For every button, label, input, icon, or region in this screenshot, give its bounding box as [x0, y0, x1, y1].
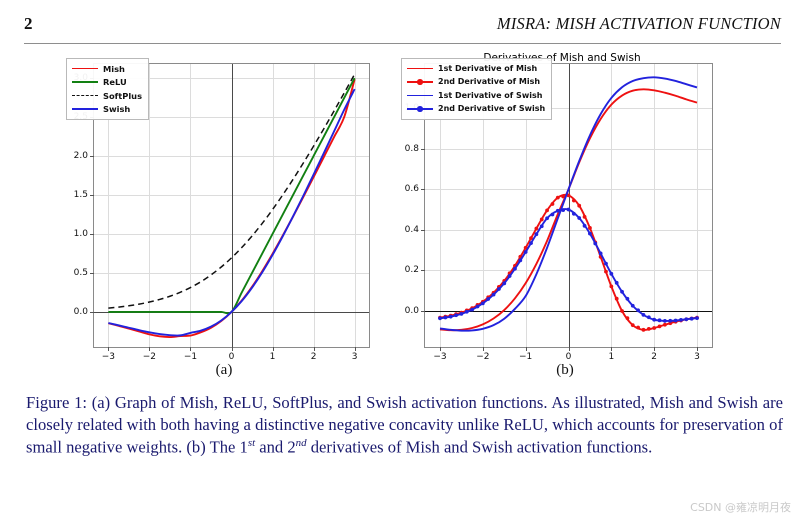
x-tick-mark	[190, 347, 191, 351]
x-tick-mark	[149, 347, 150, 351]
series-marker	[588, 226, 592, 230]
series-marker	[438, 316, 442, 320]
legend-label-softplus: SoftPlus	[103, 91, 142, 101]
x-tick-label: −3	[433, 352, 446, 362]
caption-sup-nd: nd	[296, 437, 307, 449]
series-marker	[679, 318, 683, 322]
legend-label-mish-d1: 1st Derivative of Mish	[438, 64, 537, 74]
series-marker	[663, 323, 667, 327]
series-marker	[534, 232, 538, 236]
legend-item-softplus[interactable]: SoftPlus	[72, 90, 142, 101]
series-marker	[556, 209, 560, 213]
x-tick-mark	[440, 347, 441, 351]
legend-label-mish: Mish	[103, 64, 125, 74]
series-marker	[561, 208, 565, 212]
series-marker	[460, 312, 464, 316]
series-marker	[695, 316, 699, 320]
series-marker	[642, 328, 646, 332]
legend-item-swish[interactable]: Swish	[72, 104, 142, 115]
legend-swatch-swish-d1	[407, 91, 433, 101]
x-tick-mark	[697, 347, 698, 351]
x-tick-mark	[526, 347, 527, 351]
series-marker	[609, 284, 613, 288]
series-marker	[588, 232, 592, 236]
x-tick-mark	[232, 347, 233, 351]
x-tick-mark	[569, 347, 570, 351]
sub-caption-a: (a)	[216, 362, 233, 379]
series-marker	[577, 216, 581, 220]
legend-swatch-swish	[72, 104, 98, 114]
series-marker	[551, 213, 555, 217]
y-tick-label: 0.2	[383, 265, 419, 275]
series-marker	[454, 313, 458, 317]
legend-label-mish-d2: 2nd Derivative of Mish	[438, 77, 540, 87]
running-header: 2 MISRA: MISH ACTIVATION FUNCTION	[24, 14, 781, 40]
legend-swatch-swish-d2	[407, 104, 433, 114]
watermark: CSDN @雍凉明月夜	[690, 499, 791, 515]
y-tick-label: 0.4	[383, 225, 419, 235]
legend-swatch-mish	[72, 64, 98, 74]
caption-mid: and 2	[255, 437, 296, 456]
series-marker	[518, 258, 522, 262]
x-tick-label: −2	[143, 352, 156, 362]
chart-panel-b: Derivatives of Mish and Swish −3−2−10123…	[392, 50, 732, 360]
series-marker	[486, 297, 490, 301]
series-line-2nd-derivative-of-mish	[440, 195, 697, 330]
series-marker	[497, 287, 501, 291]
legend-item-mish[interactable]: Mish	[72, 63, 142, 74]
series-marker	[647, 315, 651, 319]
series-marker	[577, 204, 581, 208]
legend-item-swish-d2[interactable]: 2nd Derivative of Swish	[407, 104, 545, 115]
legend-item-relu[interactable]: ReLU	[72, 77, 142, 88]
x-tick-mark	[314, 347, 315, 351]
series-marker	[443, 316, 447, 320]
y-tick-mark	[90, 273, 94, 274]
series-marker	[604, 262, 608, 266]
x-tick-label: 2	[311, 352, 317, 362]
legend-label-relu: ReLU	[103, 77, 127, 87]
series-marker	[481, 301, 485, 305]
series-marker	[684, 317, 688, 321]
series-marker	[604, 270, 608, 274]
series-marker	[626, 297, 630, 301]
series-marker	[572, 212, 576, 216]
x-tick-mark	[654, 347, 655, 351]
figure-1: −3−2−101230.00.51.01.52.02.53.0 Mish ReL…	[0, 50, 805, 360]
series-marker	[476, 305, 480, 309]
y-tick-mark	[90, 234, 94, 235]
series-marker	[631, 304, 635, 308]
header-divider	[24, 43, 781, 44]
series-marker	[513, 267, 517, 271]
legend-item-mish-d1[interactable]: 1st Derivative of Mish	[407, 63, 545, 74]
x-tick-label: 2	[651, 352, 657, 362]
series-marker	[567, 208, 571, 212]
legend-swatch-mish-d2	[407, 77, 433, 87]
series-marker	[572, 199, 576, 203]
figure-caption: Figure 1: (a) Graph of Mish, ReLU, SoftP…	[26, 392, 783, 458]
series-marker	[545, 216, 549, 220]
series-marker	[492, 293, 496, 297]
y-tick-label: 1.5	[52, 190, 88, 200]
series-marker	[636, 326, 640, 330]
x-tick-mark	[273, 347, 274, 351]
series-marker	[583, 224, 587, 228]
x-tick-label: 1	[270, 352, 276, 362]
series-marker	[583, 215, 587, 219]
legend-b: 1st Derivative of Mish 2nd Derivative of…	[401, 58, 552, 120]
x-tick-label: −1	[184, 352, 197, 362]
series-marker	[556, 196, 560, 200]
x-tick-label: 3	[694, 352, 700, 362]
legend-swatch-softplus	[72, 91, 98, 101]
x-tick-label: −2	[476, 352, 489, 362]
series-marker	[620, 309, 624, 313]
page-title: MISRA: MISH ACTIVATION FUNCTION	[497, 14, 781, 34]
y-tick-label: 0.0	[52, 307, 88, 317]
x-tick-label: −1	[519, 352, 532, 362]
series-marker	[599, 252, 603, 256]
legend-item-mish-d2[interactable]: 2nd Derivative of Mish	[407, 77, 545, 88]
x-tick-label: 1	[608, 352, 614, 362]
page-number: 2	[24, 14, 33, 34]
series-marker	[642, 313, 646, 317]
x-tick-label: 0	[566, 352, 572, 362]
series-marker	[551, 202, 555, 206]
series-marker	[465, 310, 469, 314]
y-tick-label: 0.8	[383, 144, 419, 154]
series-marker	[652, 318, 656, 322]
series-marker	[636, 308, 640, 312]
y-tick-label: 1.0	[52, 229, 88, 239]
x-tick-label: 3	[352, 352, 358, 362]
legend-item-swish-d1[interactable]: 1st Derivative of Swish	[407, 90, 545, 101]
series-marker	[647, 327, 651, 331]
series-marker	[540, 224, 544, 228]
series-marker	[524, 250, 528, 254]
y-tick-mark	[421, 270, 425, 271]
legend-swatch-relu	[72, 77, 98, 87]
y-tick-label: 0.0	[383, 306, 419, 316]
y-tick-label: 0.5	[52, 268, 88, 278]
legend-label-swish-d2: 2nd Derivative of Swish	[438, 104, 545, 114]
series-marker	[615, 281, 619, 285]
caption-end: derivatives of Mish and Swish activation…	[307, 437, 653, 456]
sub-caption-b: (b)	[556, 362, 574, 379]
y-tick-label: 2.0	[52, 151, 88, 161]
y-tick-mark	[90, 195, 94, 196]
series-marker	[615, 297, 619, 301]
legend-label-swish-d1: 1st Derivative of Swish	[438, 91, 542, 101]
y-tick-label: 0.6	[383, 184, 419, 194]
x-tick-mark	[483, 347, 484, 351]
y-tick-mark	[90, 156, 94, 157]
x-tick-mark	[355, 347, 356, 351]
series-marker	[620, 290, 624, 294]
x-tick-label: −3	[102, 352, 115, 362]
series-line-swish	[108, 89, 354, 335]
series-marker	[652, 326, 656, 330]
series-marker	[508, 274, 512, 278]
series-marker	[668, 319, 672, 323]
caption-sup-st: st	[248, 437, 255, 449]
series-marker	[534, 227, 538, 231]
legend-swatch-mish-d1	[407, 64, 433, 74]
series-marker	[540, 218, 544, 222]
series-marker	[626, 316, 630, 320]
series-marker	[658, 324, 662, 328]
y-tick-mark	[421, 189, 425, 190]
series-marker	[529, 241, 533, 245]
legend-a: Mish ReLU SoftPlus Swish	[66, 58, 149, 120]
legend-label-swish: Swish	[103, 104, 130, 114]
series-marker	[631, 323, 635, 327]
x-tick-label: 0	[229, 352, 235, 362]
document-page: 2 MISRA: MISH ACTIVATION FUNCTION −3−2−1…	[0, 0, 805, 521]
y-tick-mark	[90, 312, 94, 313]
y-tick-mark	[421, 311, 425, 312]
series-marker	[470, 308, 474, 312]
series-marker	[449, 315, 453, 319]
y-tick-mark	[421, 149, 425, 150]
series-marker	[663, 319, 667, 323]
x-tick-mark	[611, 347, 612, 351]
series-marker	[593, 242, 597, 246]
series-marker	[545, 208, 549, 212]
x-tick-mark	[108, 347, 109, 351]
y-tick-mark	[421, 230, 425, 231]
series-marker	[502, 281, 506, 285]
series-marker	[609, 272, 613, 276]
series-marker	[690, 317, 694, 321]
chart-panel-a: −3−2−101230.00.51.01.52.02.53.0 Mish ReL…	[55, 50, 385, 360]
series-marker	[658, 318, 662, 322]
series-marker	[674, 319, 678, 323]
